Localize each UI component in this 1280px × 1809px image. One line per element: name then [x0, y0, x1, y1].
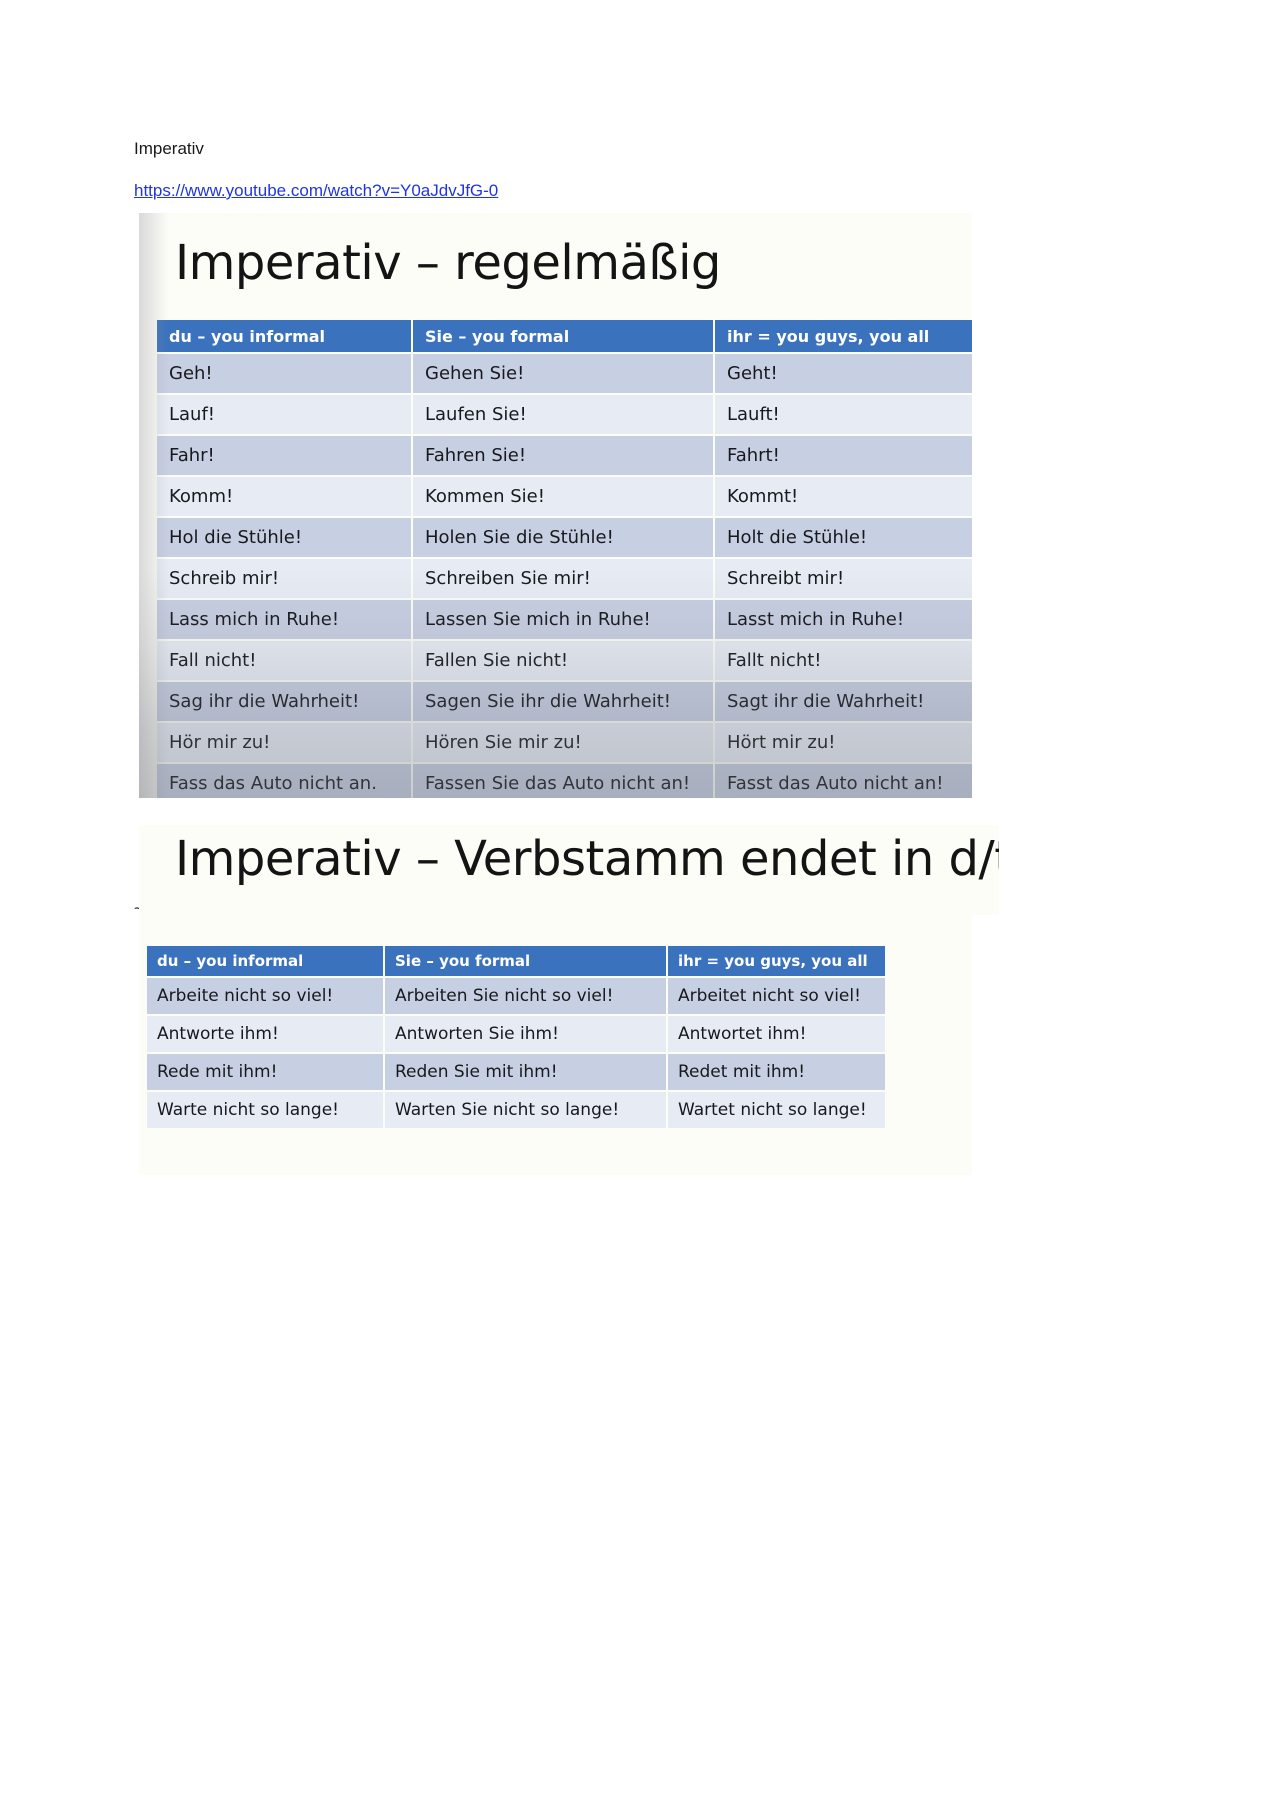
table-row: Lauf! Laufen Sie! Lauft!	[157, 394, 972, 435]
column-header-sie: Sie – you formal	[412, 320, 714, 353]
cell-du: Arbeite nicht so viel!	[147, 977, 384, 1015]
cell-ihr: Fallt nicht!	[714, 640, 972, 681]
table-row: Hol die Stühle! Holen Sie die Stühle! Ho…	[157, 517, 972, 558]
cell-du: Komm!	[157, 476, 412, 517]
cell-du: Hör mir zu!	[157, 722, 412, 763]
slide-imperativ-regelmaessig: Imperativ – regelmäßig du – you informal…	[139, 213, 972, 798]
cell-du: Fall nicht!	[157, 640, 412, 681]
cell-sie: Laufen Sie!	[412, 394, 714, 435]
table-row: Fall nicht! Fallen Sie nicht! Fallt nich…	[157, 640, 972, 681]
cell-sie: Hören Sie mir zu!	[412, 722, 714, 763]
cell-du: Rede mit ihm!	[147, 1053, 384, 1091]
table-row: Schreib mir! Schreiben Sie mir! Schreibt…	[157, 558, 972, 599]
cell-du: Schreib mir!	[157, 558, 412, 599]
table-row: Hör mir zu! Hören Sie mir zu! Hört mir z…	[157, 722, 972, 763]
cell-ihr: Holt die Stühle!	[714, 517, 972, 558]
cell-ihr: Antwortet ihm!	[667, 1015, 885, 1053]
cell-du: Lass mich in Ruhe!	[157, 599, 412, 640]
cell-ihr: Lasst mich in Ruhe!	[714, 599, 972, 640]
table-row: Komm! Kommen Sie! Kommt!	[157, 476, 972, 517]
table-row: Rede mit ihm! Reden Sie mit ihm! Redet m…	[147, 1053, 885, 1091]
table-header-row: du – you informal Sie – you formal ihr =…	[157, 320, 972, 353]
cell-du: Antworte ihm!	[147, 1015, 384, 1053]
slide-imperativ-verbstamm-dt: du – you informal Sie – you formal ihr =…	[139, 915, 972, 1175]
cell-ihr: Sagt ihr die Wahrheit!	[714, 681, 972, 722]
column-header-du: du – you informal	[147, 946, 384, 977]
cell-du: Warte nicht so lange!	[147, 1091, 384, 1129]
table-row: Antworte ihm! Antworten Sie ihm! Antwort…	[147, 1015, 885, 1053]
cell-ihr: Fasst das Auto nicht an!	[714, 763, 972, 798]
youtube-link[interactable]: https://www.youtube.com/watch?v=Y0aJdvJf…	[134, 180, 498, 202]
column-header-du: du – you informal	[157, 320, 412, 353]
cell-du: Fahr!	[157, 435, 412, 476]
imperative-dt-table: du – you informal Sie – you formal ihr =…	[147, 946, 885, 1130]
page-title: Imperativ	[134, 138, 204, 160]
column-header-ihr: ihr = you guys, you all	[714, 320, 972, 353]
column-header-ihr: ihr = you guys, you all	[667, 946, 885, 977]
cell-ihr: Lauft!	[714, 394, 972, 435]
cell-sie: Lassen Sie mich in Ruhe!	[412, 599, 714, 640]
cell-sie: Arbeiten Sie nicht so viel!	[384, 977, 667, 1015]
cell-ihr: Redet mit ihm!	[667, 1053, 885, 1091]
cell-sie: Reden Sie mit ihm!	[384, 1053, 667, 1091]
document-page: Imperativ https://www.youtube.com/watch?…	[0, 0, 1280, 1809]
slide-two-heading: Imperativ – Verbstamm endet in d/t	[175, 831, 999, 887]
table-row: Fahr! Fahren Sie! Fahrt!	[157, 435, 972, 476]
cell-du: Fass das Auto nicht an.	[157, 763, 412, 798]
cell-ihr: Wartet nicht so lange!	[667, 1091, 885, 1129]
cell-sie: Kommen Sie!	[412, 476, 714, 517]
cell-ihr: Fahrt!	[714, 435, 972, 476]
imperative-regular-table: du – you informal Sie – you formal ihr =…	[157, 320, 972, 798]
cell-du: Hol die Stühle!	[157, 517, 412, 558]
cell-ihr: Schreibt mir!	[714, 558, 972, 599]
cell-du: Sag ihr die Wahrheit!	[157, 681, 412, 722]
cell-sie: Gehen Sie!	[412, 353, 714, 394]
cell-sie: Warten Sie nicht so lange!	[384, 1091, 667, 1129]
cell-du: Lauf!	[157, 394, 412, 435]
slide-one-heading: Imperativ – regelmäßig	[175, 235, 721, 291]
cell-sie: Antworten Sie ihm!	[384, 1015, 667, 1053]
table-row: Warte nicht so lange! Warten Sie nicht s…	[147, 1091, 885, 1129]
cell-sie: Fahren Sie!	[412, 435, 714, 476]
cell-ihr: Hört mir zu!	[714, 722, 972, 763]
table-row: Geh! Gehen Sie! Geht!	[157, 353, 972, 394]
cell-sie: Sagen Sie ihr die Wahrheit!	[412, 681, 714, 722]
table-row: Arbeite nicht so viel! Arbeiten Sie nich…	[147, 977, 885, 1015]
table-row: Lass mich in Ruhe! Lassen Sie mich in Ru…	[157, 599, 972, 640]
table-row: Sag ihr die Wahrheit! Sagen Sie ihr die …	[157, 681, 972, 722]
column-header-sie: Sie – you formal	[384, 946, 667, 977]
table-header-row: du – you informal Sie – you formal ihr =…	[147, 946, 885, 977]
cell-sie: Schreiben Sie mir!	[412, 558, 714, 599]
cell-ihr: Kommt!	[714, 476, 972, 517]
cell-ihr: Geht!	[714, 353, 972, 394]
cell-sie: Fassen Sie das Auto nicht an!	[412, 763, 714, 798]
table-row: Fass das Auto nicht an. Fassen Sie das A…	[157, 763, 972, 798]
cell-du: Geh!	[157, 353, 412, 394]
cell-ihr: Arbeitet nicht so viel!	[667, 977, 885, 1015]
cell-sie: Fallen Sie nicht!	[412, 640, 714, 681]
slide-two-heading-band: Imperativ – Verbstamm endet in d/t	[139, 825, 999, 915]
cell-sie: Holen Sie die Stühle!	[412, 517, 714, 558]
